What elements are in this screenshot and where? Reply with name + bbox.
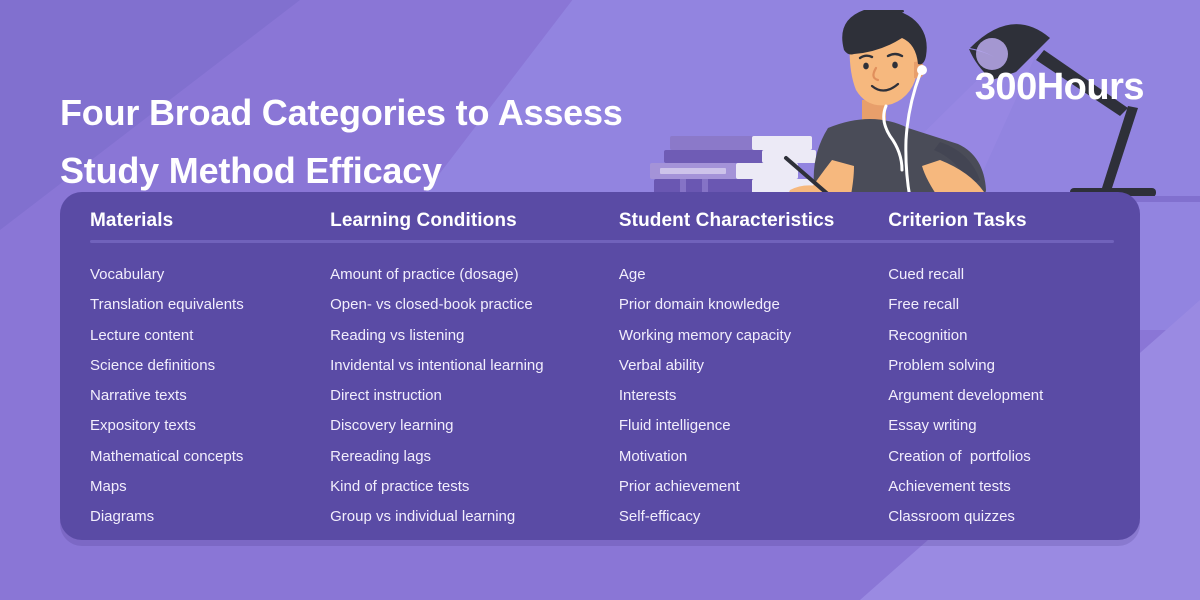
page-title-line-2: Study Method Efficacy [60,142,720,200]
list-item: Prior achievement [619,472,888,502]
list-item: Mathematical concepts [90,442,330,472]
column-items-student-characteristics: Age Prior domain knowledge Working memor… [619,260,888,533]
category-column-student-characteristics: Student Characteristics Age Prior domain… [619,192,888,540]
list-item: Classroom quizzes [888,502,1140,532]
list-item: Science definitions [90,351,330,381]
column-header-criterion-tasks: Criterion Tasks [888,210,1140,232]
column-header-student-characteristics: Student Characteristics [619,210,888,232]
list-item: Reading vs listening [330,321,619,351]
list-item: Recognition [888,321,1140,351]
list-item: Essay writing [888,411,1140,441]
column-items-criterion-tasks: Cued recall Free recall Recognition Prob… [888,260,1140,533]
list-item: Achievement tests [888,472,1140,502]
list-item: Rereading lags [330,442,619,472]
infographic-poster: Four Broad Categories to Assess Study Me… [0,0,1200,600]
list-item: Invidental vs intentional learning [330,351,619,381]
column-items-learning-conditions: Amount of practice (dosage) Open- vs clo… [330,260,619,533]
list-item: Amount of practice (dosage) [330,260,619,290]
page-title-line-1: Four Broad Categories to Assess [60,84,720,142]
categories-columns: Materials Vocabulary Translation equival… [60,192,1140,540]
list-item: Self-efficacy [619,502,888,532]
page-title: Four Broad Categories to Assess Study Me… [60,84,720,199]
category-column-materials: Materials Vocabulary Translation equival… [60,192,330,540]
list-item: Cued recall [888,260,1140,290]
list-item: Maps [90,472,330,502]
list-item: Prior domain knowledge [619,290,888,320]
list-item: Creation of portfolios [888,442,1140,472]
list-item: Argument development [888,381,1140,411]
column-header-learning-conditions: Learning Conditions [330,210,619,232]
list-item: Verbal ability [619,351,888,381]
list-item: Vocabulary [90,260,330,290]
category-column-criterion-tasks: Criterion Tasks Cued recall Free recall … [888,192,1140,540]
list-item: Motivation [619,442,888,472]
list-item: Discovery learning [330,411,619,441]
list-item: Age [619,260,888,290]
list-item: Expository texts [90,411,330,441]
column-header-materials: Materials [90,210,330,232]
list-item: Narrative texts [90,381,330,411]
list-item: Open- vs closed-book practice [330,290,619,320]
list-item: Kind of practice tests [330,472,619,502]
list-item: Diagrams [90,502,330,532]
column-items-materials: Vocabulary Translation equivalents Lectu… [90,260,330,533]
list-item: Working memory capacity [619,321,888,351]
brand-logo: 300Hours [975,66,1144,109]
list-item: Fluid intelligence [619,411,888,441]
list-item: Direct instruction [330,381,619,411]
list-item: Free recall [888,290,1140,320]
list-item: Lecture content [90,321,330,351]
list-item: Translation equivalents [90,290,330,320]
list-item: Group vs individual learning [330,502,619,532]
categories-card: Materials Vocabulary Translation equival… [60,192,1140,540]
list-item: Problem solving [888,351,1140,381]
header-divider [90,240,1114,243]
list-item: Interests [619,381,888,411]
category-column-learning-conditions: Learning Conditions Amount of practice (… [330,192,619,540]
